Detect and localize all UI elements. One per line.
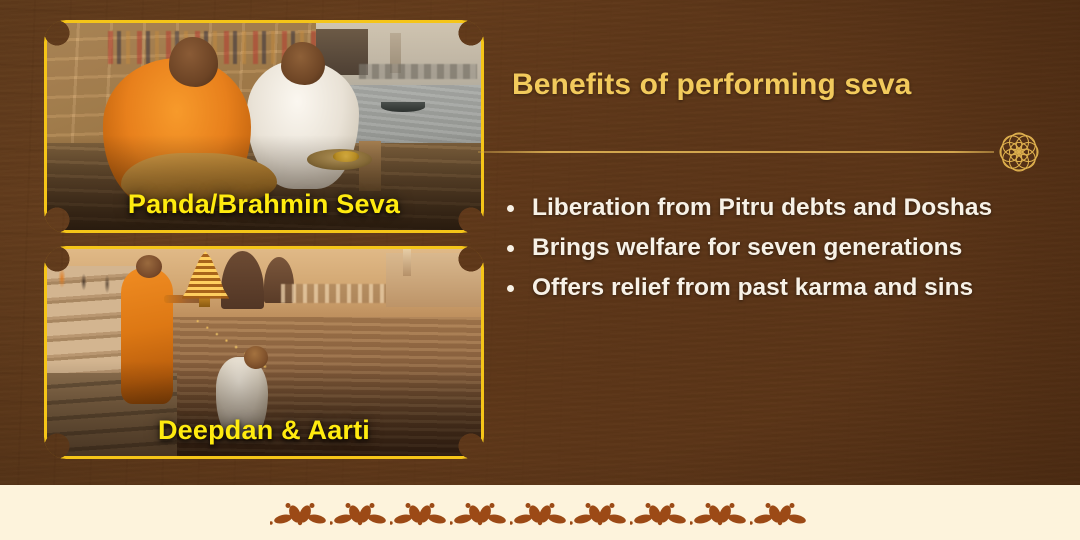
photo2-priest-head: [136, 255, 162, 278]
lotus-motif-icon: [450, 500, 510, 526]
lotus-motif-icon: [390, 500, 450, 526]
photo-card-deepdan-aarti[interactable]: Deepdan & Aarti: [44, 246, 484, 459]
lotus-motif-icon: [630, 500, 690, 526]
footer-motif-row: [0, 500, 1080, 526]
photo1-boat: [381, 102, 424, 112]
lotus-motif-icon: [570, 500, 630, 526]
benefit-item-2: Brings welfare for seven generations: [500, 228, 1005, 268]
slide-root: Panda/Brahmin Seva Deepdan & Aarti: [0, 0, 1080, 540]
divider-rule: [478, 151, 994, 153]
photo1-man-white-head: [281, 42, 324, 85]
lotus-motif-icon: [270, 500, 330, 526]
photo1-priest-head: [169, 37, 219, 87]
photo-panda-brahmin-seva: Panda/Brahmin Seva: [47, 23, 481, 230]
photo2-far-ghat: [386, 253, 481, 307]
photo-deepdan-aarti: Deepdan & Aarti: [47, 249, 481, 456]
photo2-background-people: [51, 253, 129, 303]
lotus-motif-icon: [330, 500, 390, 526]
photo2-spire: [403, 249, 411, 276]
page-title: Benefits of performing seva: [512, 68, 1032, 102]
photo-card-panda-brahmin-seva[interactable]: Panda/Brahmin Seva: [44, 20, 484, 233]
lotus-motif-icon: [750, 500, 810, 526]
lotus-motif-icon: [510, 500, 570, 526]
benefit-item-1: Liberation from Pitru debts and Doshas: [500, 188, 1005, 228]
card-caption-panda-brahmin-seva: Panda/Brahmin Seva: [47, 189, 481, 220]
card-caption-deepdan-aarti: Deepdan & Aarti: [47, 415, 481, 446]
benefit-item-3: Offers relief from past karma and sins: [500, 268, 1005, 308]
lotus-motif-icon: [690, 500, 750, 526]
benefits-list: Liberation from Pitru debts and Doshas B…: [500, 188, 1005, 308]
footer-strip: [0, 485, 1080, 540]
photo1-skyline: [359, 64, 476, 78]
mandala-rosette-icon: [993, 126, 1045, 178]
